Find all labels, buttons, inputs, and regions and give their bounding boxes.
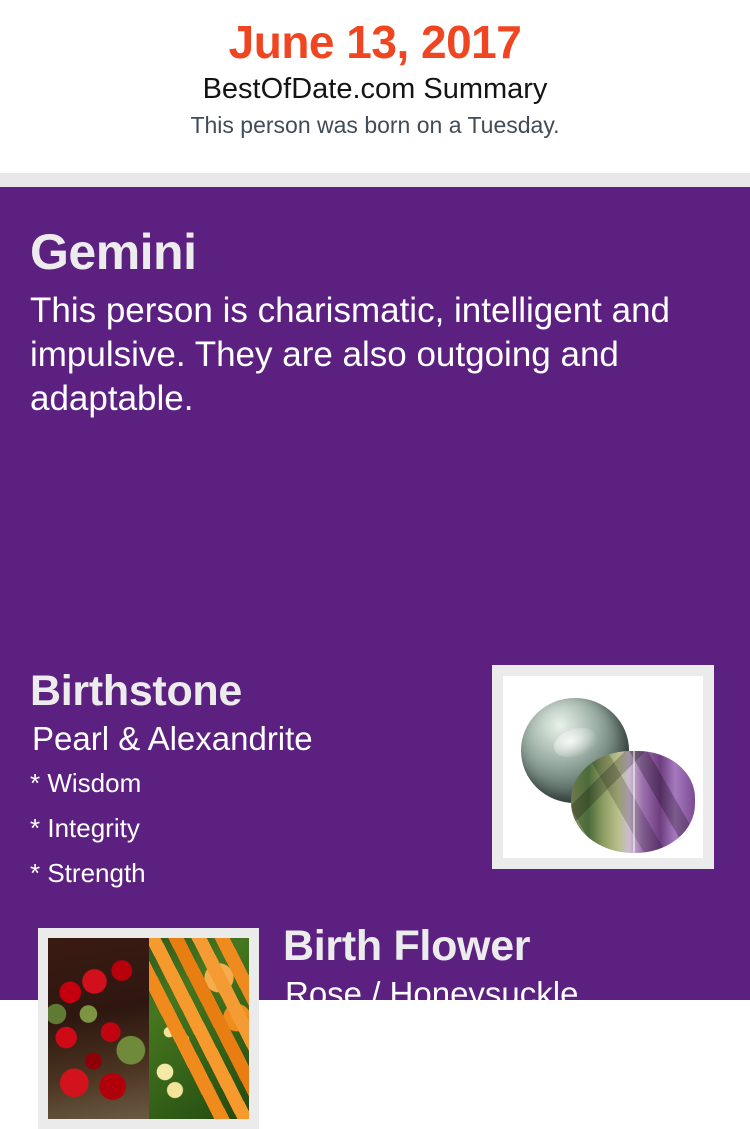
- birth-flower-photo: [48, 938, 249, 1119]
- zodiac-description: This person is charismatic, intelligent …: [30, 289, 692, 421]
- birthstone-section: Birthstone Pearl & Alexandrite * Wisdom …: [30, 670, 470, 905]
- birthstone-traits-list: * Wisdom * Integrity * Strength: [30, 770, 470, 886]
- birthstone-photo: [503, 676, 703, 858]
- birthstone-image-frame: [492, 665, 714, 869]
- list-item: * Strength: [30, 860, 470, 886]
- birth-flower-traits-list: * Romance * Happiness: [283, 1027, 733, 1098]
- zodiac-sign-title: Gemini: [30, 227, 720, 277]
- list-item: * Romance: [283, 1027, 733, 1053]
- header-divider: [0, 173, 750, 187]
- page-title-date: June 13, 2017: [0, 18, 750, 66]
- birthstone-names: Pearl & Alexandrite: [32, 721, 470, 758]
- birth-flower-image-frame: [38, 928, 259, 1129]
- zodiac-section: Gemini This person is charismatic, intel…: [30, 227, 720, 421]
- birth-flower-title: Birth Flower: [283, 925, 733, 968]
- birth-flower-section: Birth Flower Rose / Honeysuckle * Romanc…: [283, 925, 733, 1117]
- rose-photo-half: [48, 938, 149, 1119]
- birthstone-title: Birthstone: [30, 670, 470, 713]
- birth-flower-image: [48, 938, 249, 1119]
- list-item: * Happiness: [283, 1072, 733, 1098]
- alexandrite-gem-icon: [571, 751, 695, 853]
- list-item: * Integrity: [30, 815, 470, 841]
- honeysuckle-photo-half: [149, 938, 250, 1119]
- birth-flower-names: Rose / Honeysuckle: [285, 976, 733, 1013]
- born-weekday-text: This person was born on a Tuesday.: [0, 111, 750, 140]
- birthstone-image: [503, 676, 703, 858]
- site-summary-label: BestOfDate.com Summary: [0, 71, 750, 108]
- summary-panel: Gemini This person is charismatic, intel…: [0, 187, 750, 1000]
- list-item: * Wisdom: [30, 770, 470, 796]
- page-header: June 13, 2017 BestOfDate.com Summary Thi…: [0, 0, 750, 173]
